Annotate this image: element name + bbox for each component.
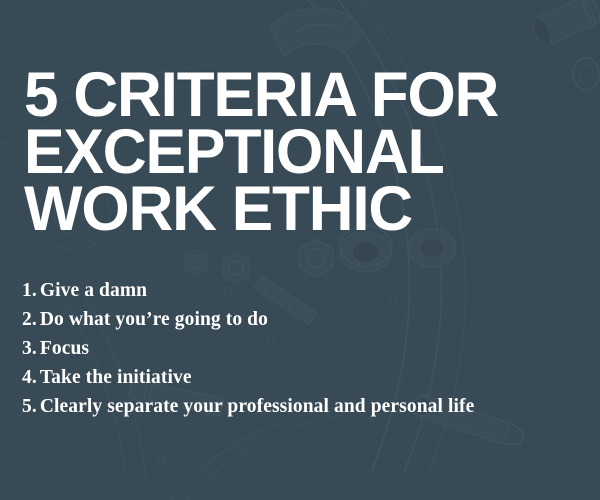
list-item-number: 1. [22,280,37,301]
headline-line-3: WORK ETHIC [24,181,582,238]
watermark-callout-14: 14 [156,453,168,465]
list-item-label: Give a damn [40,280,147,301]
page-title: 5 CRITERIA FOR EXCEPTIONAL WORK ETHIC [24,67,590,238]
list-item-label: Focus [40,338,89,359]
list-item: 4.Take the initiative [22,363,582,392]
list-item: 1.Give a damn [22,276,582,305]
list-item: 2.Do what you’re going to do [22,305,582,334]
poster-canvas: 12 11 10 5 4 14 5 CRITERIA FOR EXCEPTION… [0,0,600,500]
list-item-label: Take the initiative [40,367,192,388]
list-item-number: 2. [22,309,37,330]
list-item-number: 5. [22,396,37,417]
list-item: 3.Focus [22,334,582,363]
headline-line-2: EXCEPTIONAL [24,124,570,181]
list-item: 5.Clearly separate your professional and… [22,392,582,421]
headline-line-1: 5 CRITERIA FOR [24,67,582,124]
list-item-label: Do what you’re going to do [40,309,268,330]
list-item-number: 4. [22,367,37,388]
criteria-list: 1.Give a damn 2.Do what you’re going to … [22,276,582,421]
list-item-number: 3. [22,338,37,359]
list-item-label: Clearly separate your professional and p… [40,396,475,417]
